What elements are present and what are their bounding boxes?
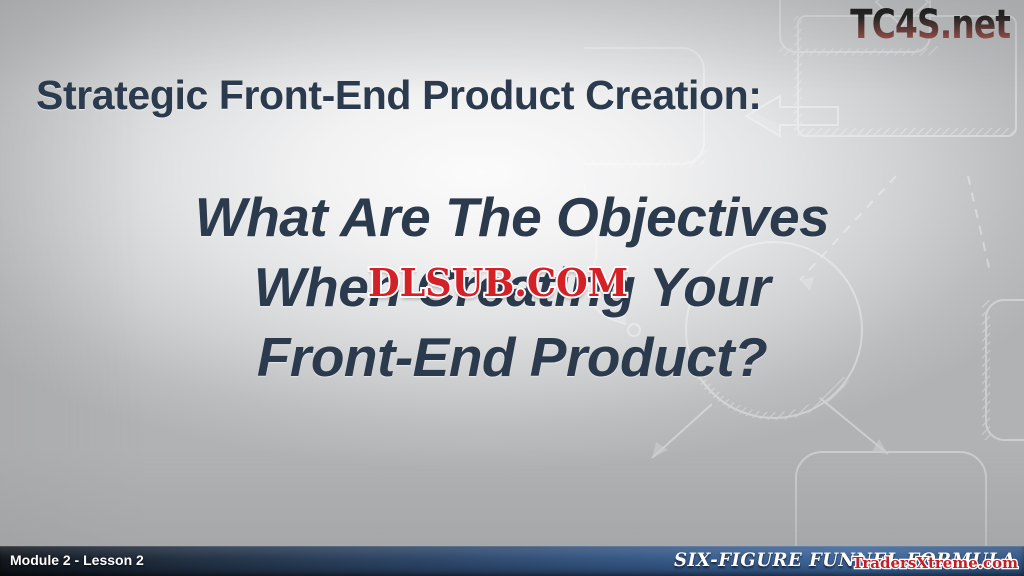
dlsub-overlay-watermark: DLSUB.COM bbox=[368, 260, 628, 305]
module-lesson-label: Module 2 - Lesson 2 bbox=[10, 552, 144, 568]
footer-bar: Module 2 - Lesson 2 SIX-FIGURE FUNNEL FO… bbox=[0, 546, 1024, 576]
dlsub-overlay-text: DLSUB.COM bbox=[368, 260, 628, 305]
tradersxtreme-text: TradersXtreme.com bbox=[852, 554, 1018, 572]
headline-line-3: Front-End Product? bbox=[0, 322, 1024, 392]
tradersxtreme-watermark: TradersXtreme.com bbox=[852, 554, 1018, 572]
tc4s-watermark: TC4S.net bbox=[850, 2, 1010, 48]
headline-line-1: What Are The Objectives bbox=[0, 182, 1024, 252]
page-title: Strategic Front-End Product Creation: bbox=[36, 72, 996, 119]
slide-canvas: Strategic Front-End Product Creation: Wh… bbox=[0, 0, 1024, 576]
